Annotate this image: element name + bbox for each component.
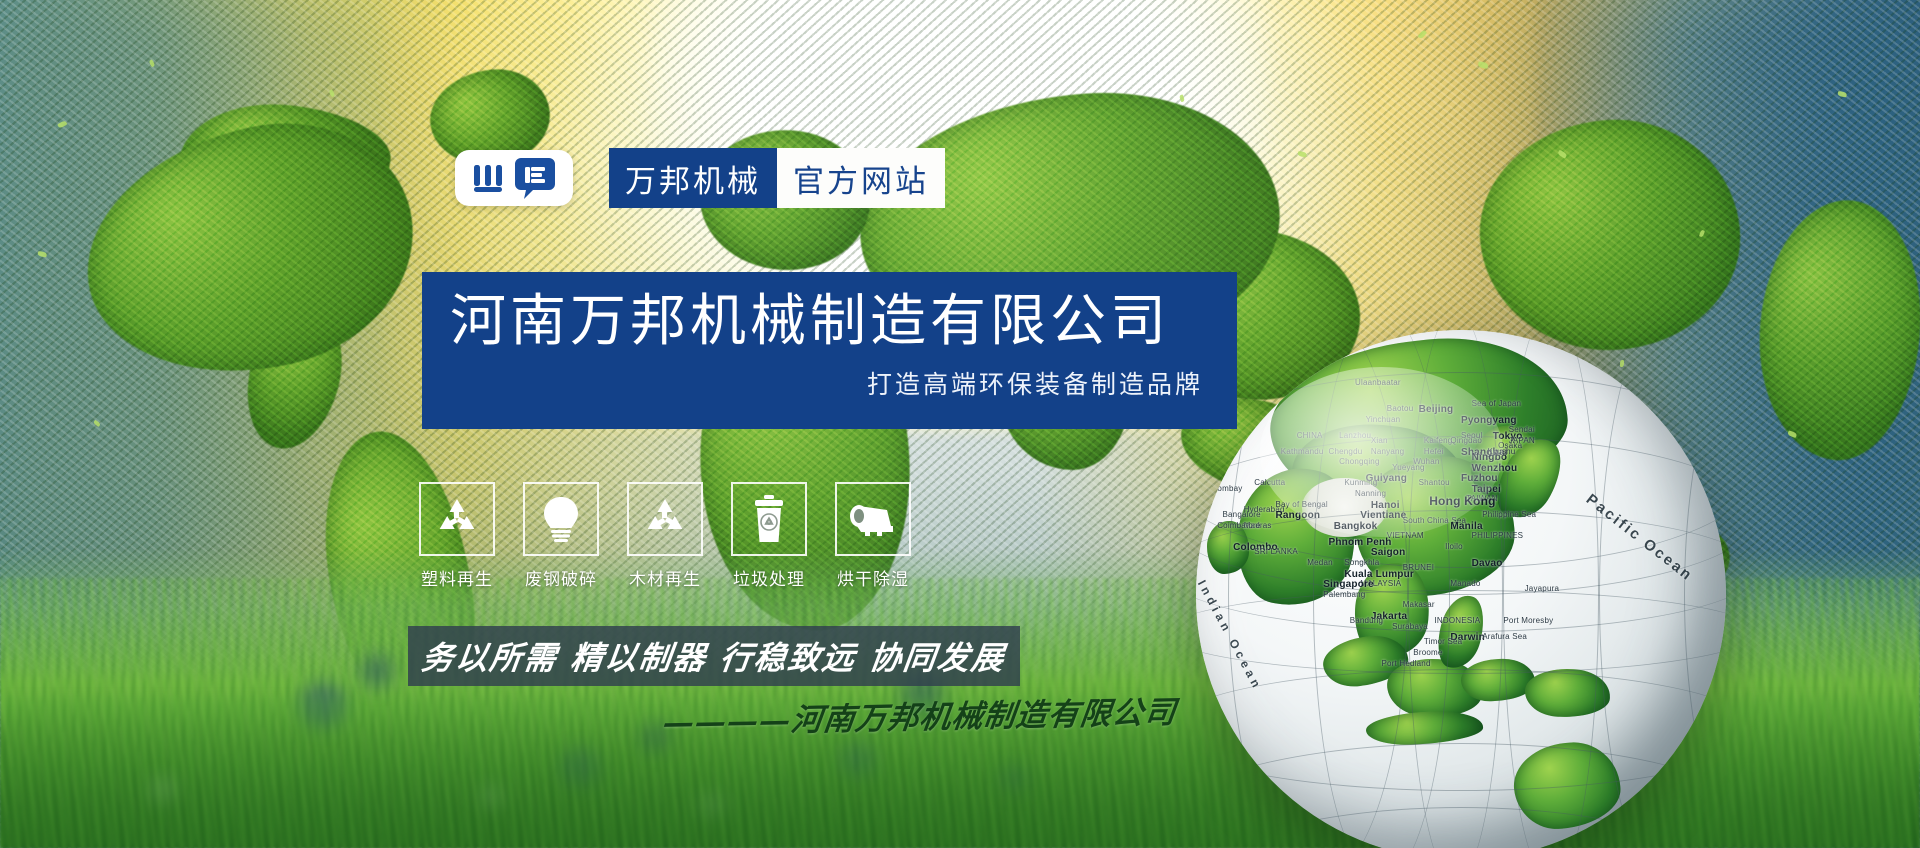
globe-place-label: Manado <box>1450 579 1480 588</box>
globe-place-label: Calcutta <box>1254 478 1285 487</box>
feature-label: 塑料再生 <box>421 565 493 590</box>
feature-item-scrap-steel-crushing[interactable]: 废钢破碎 <box>523 482 599 590</box>
logo-b-bubble-icon <box>513 156 557 200</box>
page-subtitle: 打造高端环保装备制造品牌 <box>450 365 1203 401</box>
feature-item-wood-recycling[interactable]: 木材再生 <box>627 482 703 590</box>
globe-place-label: Shantou <box>1419 478 1450 487</box>
globe-place-label: Beijing <box>1419 404 1454 415</box>
globe-place-label: Medan <box>1307 558 1332 567</box>
globe-place-label: Port Hedland <box>1382 659 1431 668</box>
globe-place-label: Philippine Sea <box>1482 510 1536 519</box>
feature-item-waste-treatment[interactable]: 垃圾处理 <box>731 482 807 590</box>
globe-place-label: JAPAN <box>1509 436 1535 445</box>
recycle-icon <box>433 496 481 542</box>
globe-place-label: Ulaanbaatar <box>1355 378 1401 387</box>
globe-place-label: Davao <box>1472 558 1503 569</box>
globe-place-label: Sendai <box>1509 425 1535 434</box>
globe-place-label: Kaifeng <box>1424 436 1453 445</box>
logo-company-name[interactable]: 万邦机械 <box>609 148 777 208</box>
wb-chat-bubble-logo[interactable] <box>455 150 573 206</box>
globe-place-label: Kuala Lumpur <box>1344 569 1414 580</box>
globe-place-label: Nanyang <box>1371 447 1404 456</box>
feature-item-plastic-recycling[interactable]: 塑料再生 <box>419 482 495 590</box>
globe-place-label: Kathmandu <box>1281 447 1324 456</box>
globe-place-label: CHINA <box>1297 431 1323 440</box>
globe-place-label: SRI LANKA <box>1254 547 1298 556</box>
hero-banner: UlaanbaatarBeijingBaotouYinchuanLanzhouX… <box>0 0 1920 848</box>
globe-ocean-label: Pacific Ocean <box>1583 491 1697 585</box>
globe-place-label: Bombay <box>1212 484 1243 493</box>
feature-label: 烘干除湿 <box>837 565 909 590</box>
globe-place-label: Jayapura <box>1525 584 1560 593</box>
globe-place-label: Fuzhou <box>1461 473 1498 484</box>
feature-icon-box <box>419 482 495 556</box>
globe-place-label: Sea of Japan <box>1472 399 1522 408</box>
globe-place-label: Arafura Sea <box>1482 632 1527 641</box>
globe-place-label: Lanzhou <box>1339 431 1371 440</box>
feature-icon-box <box>627 482 703 556</box>
lightbulb-icon <box>540 494 582 544</box>
feature-icon-box <box>835 482 911 556</box>
globe-place-label: Kyushu <box>1488 447 1516 456</box>
feature-icon-row: 塑料再生 废钢破碎 木材再生 <box>419 482 911 590</box>
globe-place-label: Timor Sea <box>1424 637 1462 646</box>
globe-place-label: Hanoi <box>1371 500 1400 511</box>
globe-place-label: Broome <box>1413 648 1442 657</box>
feature-label: 木材再生 <box>629 565 701 590</box>
globe-place-label: INDONESIA <box>1435 616 1481 625</box>
globe-place-label: Surabaya <box>1392 622 1428 631</box>
globe-place-label: Bay of Bengal <box>1276 500 1328 509</box>
globe-ocean-label: Indian Ocean <box>1196 578 1265 693</box>
globe-place-label: Seoul <box>1461 431 1482 440</box>
feature-icon-box <box>523 482 599 556</box>
globe-place-label: Saigon <box>1371 547 1406 558</box>
trash-bin-icon <box>750 494 788 544</box>
globe-place-label: Coimbatore <box>1217 521 1260 530</box>
globe: UlaanbaatarBeijingBaotouYinchuanLanzhouX… <box>1196 330 1726 848</box>
globe-place-label: Kunming <box>1344 478 1377 487</box>
globe-place-label: Vientiane <box>1360 510 1406 521</box>
globe-place-label: Yueyang <box>1392 463 1425 472</box>
globe-place-label: Hong Kong <box>1429 494 1495 508</box>
globe-place-label: Xian <box>1371 436 1388 445</box>
globe-place-label: Rangoon <box>1276 510 1321 521</box>
hero-title-box: 河南万邦机械制造有限公司 打造高端环保装备制造品牌 <box>422 272 1237 429</box>
feature-icon-box <box>731 482 807 556</box>
globe-place-label: Bandung <box>1350 616 1383 625</box>
page-title: 河南万邦机械制造有限公司 <box>450 290 1203 353</box>
globe-place-label: Baotou <box>1387 404 1414 413</box>
feature-label: 废钢破碎 <box>525 565 597 590</box>
slogan-text: 务以所需 精以制器 行稳致远 协同发展 <box>419 633 1008 679</box>
globe-place-label: Chengdu <box>1329 447 1363 456</box>
globe-city-labels: UlaanbaatarBeijingBaotouYinchuanLanzhouX… <box>1196 330 1726 848</box>
globe-place-label: Macao <box>1207 457 1232 466</box>
globe-place-label: Bangkok <box>1334 521 1378 532</box>
globe-place-label: Palembang <box>1323 590 1365 599</box>
logo-official-site[interactable]: 官方网站 <box>777 148 945 208</box>
slogan-banner: 务以所需 精以制器 行稳致远 协同发展 <box>408 626 1020 686</box>
recycle-icon <box>641 496 689 542</box>
site-logo-row[interactable]: 万邦机械 官方网站 <box>455 148 945 208</box>
globe-place-label: Songkhla <box>1344 558 1379 567</box>
feature-label: 垃圾处理 <box>733 565 805 590</box>
grass-bokeh-dot <box>360 654 394 688</box>
globe-place-label: Singapore <box>1323 579 1374 590</box>
globe-place-label: VIETNAM <box>1387 531 1424 540</box>
globe-place-label: PHILIPPINES <box>1472 531 1524 540</box>
globe-place-label: Hefei <box>1424 447 1444 456</box>
dryer-drum-icon <box>847 500 899 538</box>
globe-place-label: Yinchuan <box>1366 415 1401 424</box>
globe-place-label: Wenzhou <box>1472 463 1518 474</box>
globe-place-label: Makasar <box>1403 600 1435 609</box>
feature-item-drying-dehumidify[interactable]: 烘干除湿 <box>835 482 911 590</box>
globe-place-label: Iloilo <box>1445 542 1463 551</box>
logo-w-icon <box>472 162 506 194</box>
globe-place-label: Port Moresby <box>1503 616 1553 625</box>
globe-place-label: Chongqing <box>1339 457 1380 466</box>
globe-place-label: Nanning <box>1355 489 1386 498</box>
